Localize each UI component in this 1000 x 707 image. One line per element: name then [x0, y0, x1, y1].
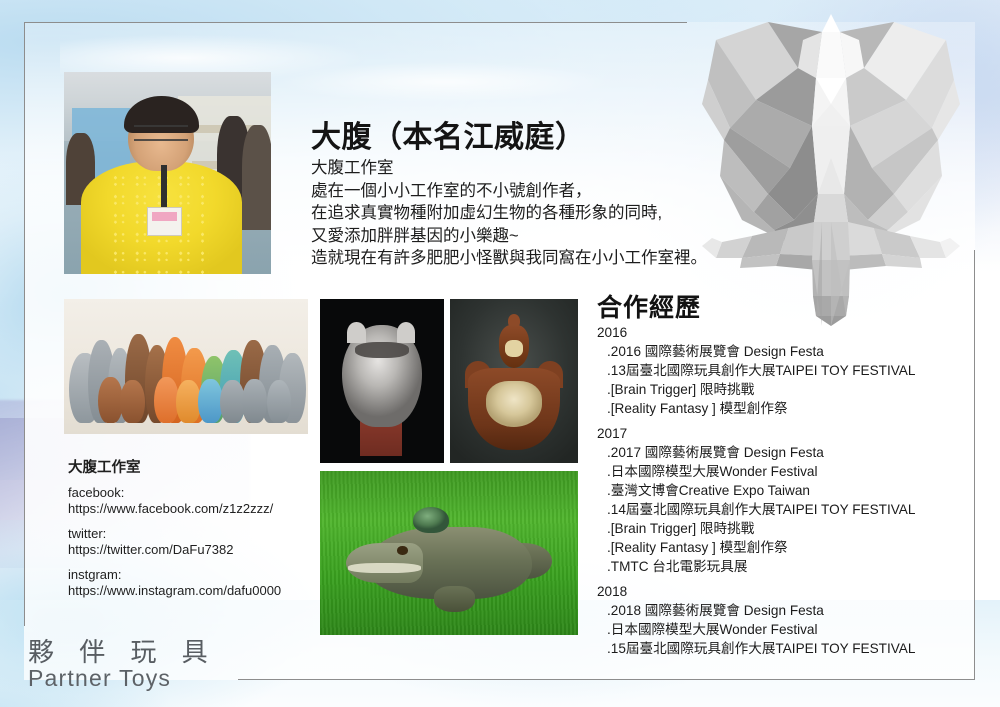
- contact-link-label: facebook:: [68, 485, 318, 501]
- contact-link-group[interactable]: facebook:https://www.facebook.com/z1z2zz…: [68, 485, 318, 517]
- poster-page: 大腹（本名江威庭） 大腹工作室處在一個小小工作室的不小號創作者，在追求真實物種附…: [0, 0, 1000, 707]
- contact-link-label: twitter:: [68, 526, 318, 542]
- skull-bowl-sculpture-photo: [450, 299, 578, 463]
- bio-line: 處在一個小小工作室的不小號創作者，: [311, 180, 731, 203]
- resume-list: 2016.2016 國際藝術展覽會 Design Festa.13屆臺北國際玩具…: [597, 323, 942, 658]
- frame-rule-bottom: [238, 679, 975, 680]
- resume-year: 2017: [597, 424, 942, 443]
- raccoon-sculpture-photo: [320, 299, 444, 463]
- resume-year: 2016: [597, 323, 942, 342]
- artist-portrait-photo: [64, 72, 271, 274]
- resume-item: .2016 國際藝術展覽會 Design Festa: [597, 342, 942, 361]
- resume-item: .15屆臺北國際玩具創作大展TAIPEI TOY FESTIVAL: [597, 639, 942, 658]
- resume-item: .2018 國際藝術展覽會 Design Festa: [597, 601, 942, 620]
- crocodile-figure-photo: [320, 471, 578, 635]
- frame-rule-left: [24, 22, 25, 626]
- contact-link-group[interactable]: instgram:https://www.instagram.com/dafu0…: [68, 567, 318, 599]
- resume-item: .[Reality Fantasy ] 模型創作祭: [597, 538, 942, 557]
- artist-name-title: 大腹（本名江威庭）: [311, 112, 586, 156]
- resume-item: .[Brain Trigger] 限時挑戰: [597, 380, 942, 399]
- resume-item: .2017 國際藝術展覽會 Design Festa: [597, 443, 942, 462]
- logo-english: Partner Toys: [28, 665, 217, 692]
- contact-link-label: instgram:: [68, 567, 318, 583]
- contact-block: 大腹工作室facebook:https://www.facebook.com/z…: [68, 460, 318, 599]
- resume-item: .日本國際模型大展Wonder Festival: [597, 462, 942, 481]
- resume-item: .臺灣文博會Creative Expo Taiwan: [597, 481, 942, 500]
- resume-item: .TMTC 台北電影玩具展: [597, 557, 942, 576]
- resume-year: 2018: [597, 582, 942, 601]
- bio-line: 大腹工作室: [311, 157, 731, 180]
- bio-line: 造就現在有許多肥肥小怪獸與我同窩在小小工作室裡。: [311, 247, 731, 270]
- resume-item: .13屆臺北國際玩具創作大展TAIPEI TOY FESTIVAL: [597, 361, 942, 380]
- contact-link-group[interactable]: twitter:https://twitter.com/DaFu7382: [68, 526, 318, 558]
- frame-rule-top: [24, 22, 687, 23]
- contact-link-url[interactable]: https://www.facebook.com/z1z2zzz/: [68, 501, 318, 517]
- resume-heading: 合作經歷: [597, 288, 701, 324]
- logo-chinese: 夥 伴 玩 具: [28, 637, 217, 667]
- bio-line: 又愛添加胖胖基因的小樂趣~: [311, 225, 731, 248]
- resume-item: .[Reality Fantasy ] 模型創作祭: [597, 399, 942, 418]
- partner-toys-logo: 夥 伴 玩 具 Partner Toys: [28, 637, 217, 692]
- contact-studio-name: 大腹工作室: [68, 460, 318, 476]
- contact-link-url[interactable]: https://twitter.com/DaFu7382: [68, 542, 318, 558]
- toy-figures-photo: [64, 299, 308, 434]
- resume-item: .[Brain Trigger] 限時挑戰: [597, 519, 942, 538]
- resume-item: .日本國際模型大展Wonder Festival: [597, 620, 942, 639]
- resume-item: .14屆臺北國際玩具創作大展TAIPEI TOY FESTIVAL: [597, 500, 942, 519]
- contact-link-url[interactable]: https://www.instagram.com/dafu0000: [68, 583, 318, 599]
- bio-line: 在追求真實物種附加虛幻生物的各種形象的同時,: [311, 202, 731, 225]
- artist-bio: 大腹工作室處在一個小小工作室的不小號創作者，在追求真實物種附加虛幻生物的各種形象…: [311, 157, 731, 270]
